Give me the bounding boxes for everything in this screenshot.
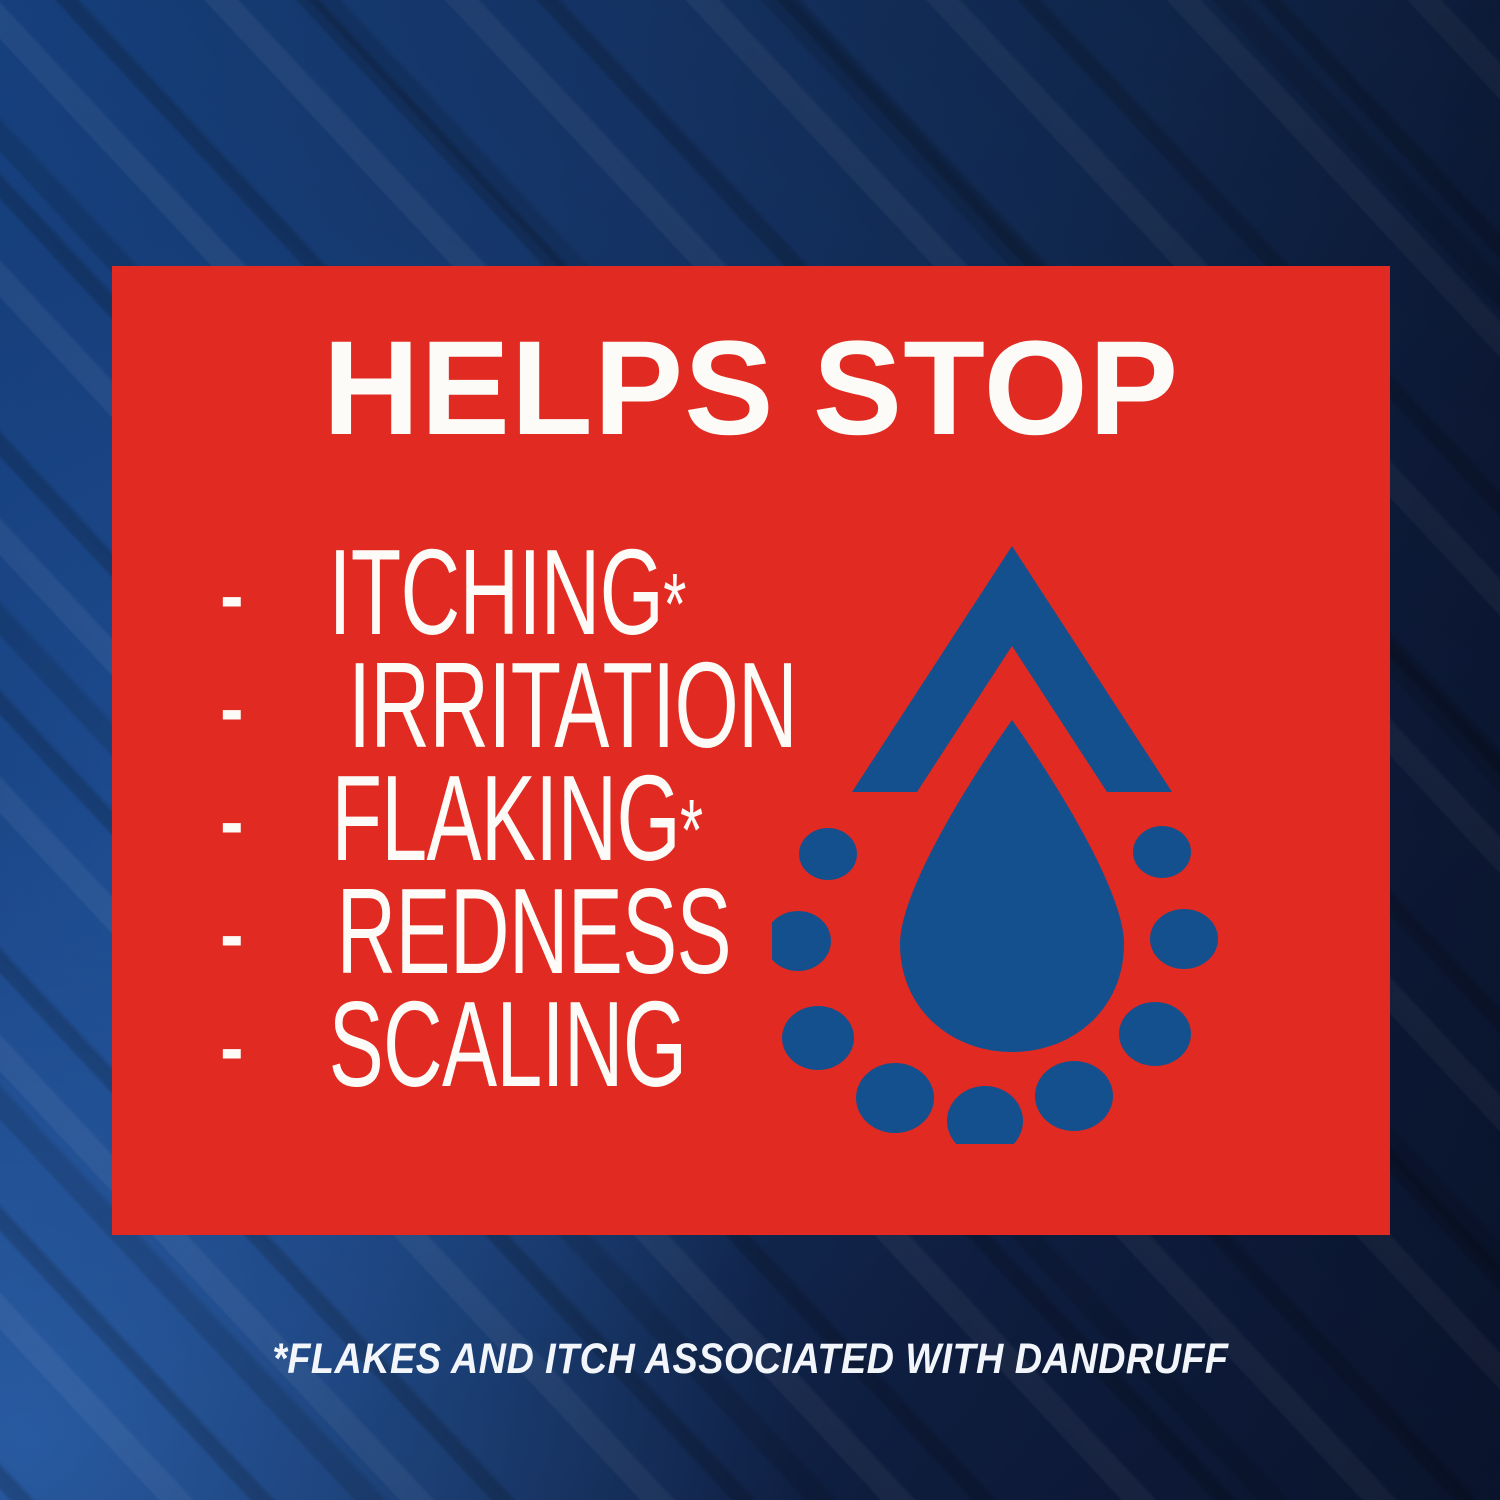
list-item: - IRRITATION [212, 647, 812, 760]
flake-dot [799, 828, 857, 880]
flake-dot [947, 1086, 1023, 1144]
flake-dot [1119, 1002, 1191, 1066]
bullet-dash: - [220, 646, 245, 766]
symptom-list: - ITCHING* - IRRITATION - FLAKING* - RED… [212, 534, 812, 1099]
list-item: - FLAKING* [212, 760, 812, 873]
bullet-dash: - [220, 533, 245, 653]
symptom-label-scaling: SCALING [329, 984, 687, 1106]
footnote-disclaimer: *FLAKES AND ITCH ASSOCIATED WITH DANDRUF… [0, 1338, 1500, 1381]
flake-dot [856, 1063, 934, 1133]
flake-dot [1133, 826, 1191, 878]
promo-graphic: HELPS STOP - ITCHING* - IRRITATION - FLA… [0, 0, 1500, 1500]
list-item: - REDNESS [212, 873, 812, 986]
red-content-panel: HELPS STOP - ITCHING* - IRRITATION - FLA… [112, 266, 1390, 1235]
flake-dot [782, 1006, 854, 1070]
flake-dot [1150, 909, 1218, 969]
symptom-label-redness: REDNESS [337, 871, 731, 993]
water-droplet-icon [900, 720, 1124, 1052]
symptom-label-irritation: IRRITATION [348, 645, 797, 767]
droplet-with-chevron-and-flakes-icon [772, 524, 1252, 1144]
bullet-dash: - [220, 759, 245, 879]
list-item: - ITCHING* [212, 534, 812, 647]
symptom-label-itching: ITCHING* [329, 532, 686, 654]
flake-dot [1035, 1061, 1113, 1131]
flake-dot [772, 911, 831, 971]
symptom-label-flaking: FLAKING* [331, 758, 702, 880]
bullet-dash: - [220, 985, 245, 1105]
page-title: HELPS STOP [112, 322, 1390, 456]
bullet-dash: - [220, 872, 245, 992]
list-item: - SCALING [212, 986, 812, 1099]
